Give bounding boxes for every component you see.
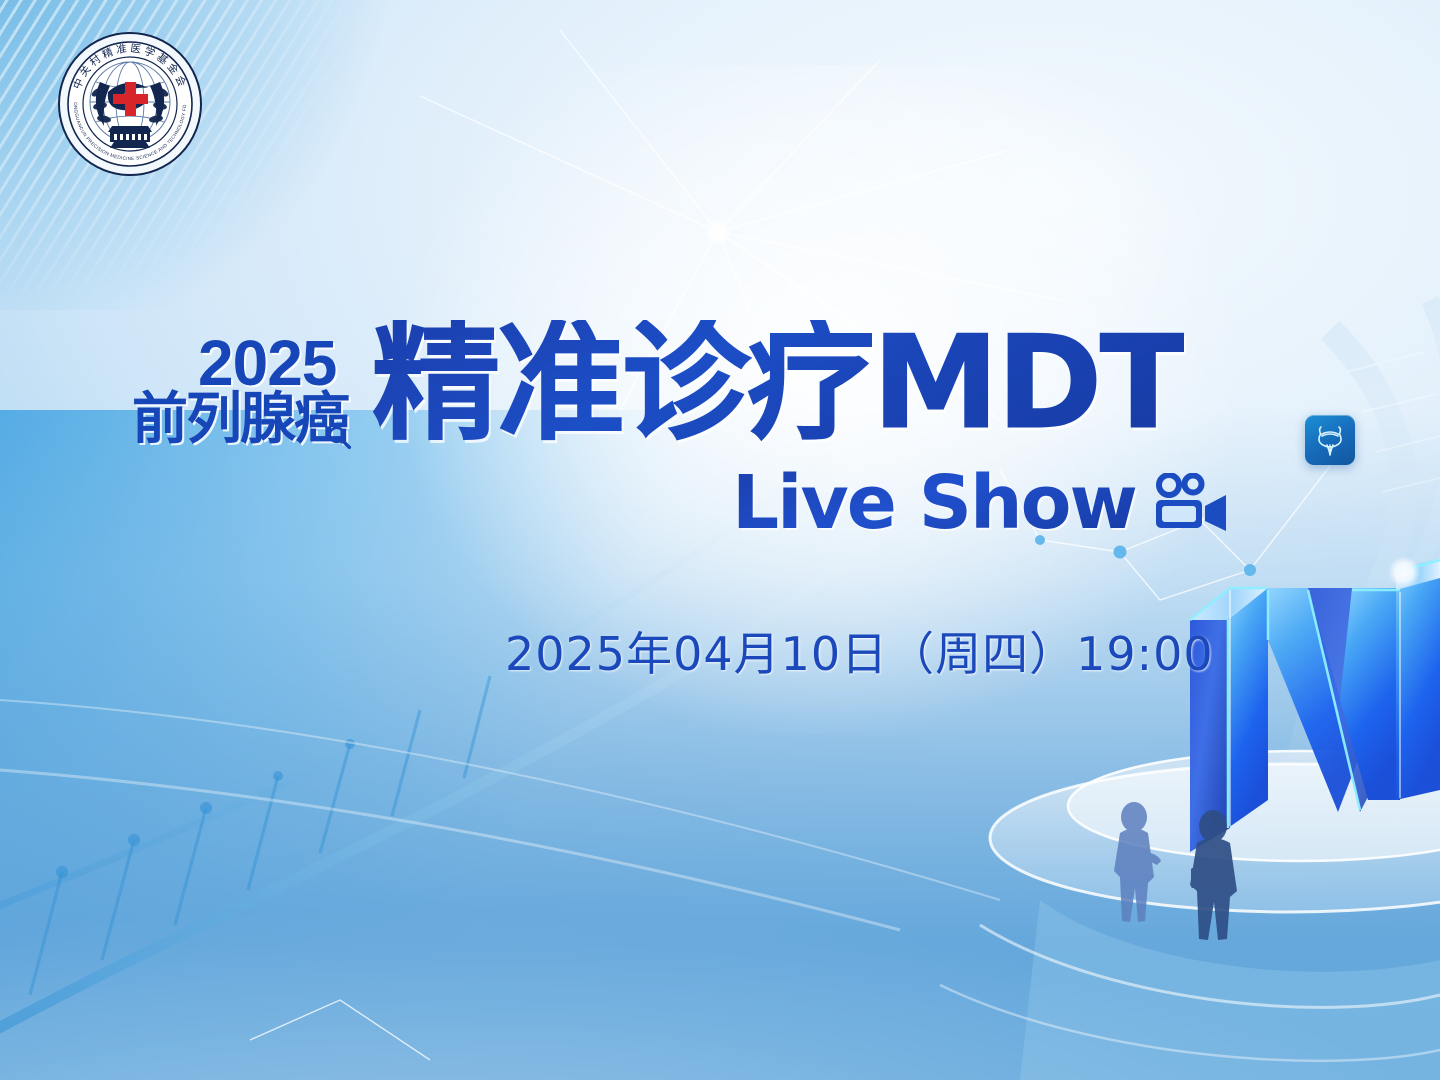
headline-left-stack: 2025 前列腺癌 [132, 326, 382, 456]
headline-subject: 前列腺癌 [132, 392, 348, 448]
prostate-anatomy-icon [1313, 423, 1347, 457]
video-camera-icon [1152, 473, 1230, 533]
event-datetime: 2025年04月10日（周四）19:00 [505, 618, 1214, 684]
foundation-logo-icon: 中关村精准医学基金会 CHINA ZHONGGUANCUN PRECISION … [56, 30, 204, 178]
magnifier-icon [326, 424, 352, 450]
headline-block: 2025 前列腺癌 精准诊疗MDT Live Show [132, 326, 1242, 536]
headline-year: 2025 [198, 334, 336, 393]
background-bottom-sheen [0, 648, 1440, 1080]
headline-main: 精准诊疗MDT [372, 320, 1184, 448]
headline-live-show-row: Live Show [732, 466, 1230, 540]
foundation-logo: 中关村精准医学基金会 CHINA ZHONGGUANCUN PRECISION … [56, 30, 204, 178]
headline-live-show: Live Show [732, 466, 1136, 540]
poster-canvas: 中关村精准医学基金会 CHINA ZHONGGUANCUN PRECISION … [0, 0, 1440, 1080]
headline-subject-text: 前列腺癌 [132, 387, 348, 452]
prostate-anatomy-badge [1305, 415, 1355, 465]
